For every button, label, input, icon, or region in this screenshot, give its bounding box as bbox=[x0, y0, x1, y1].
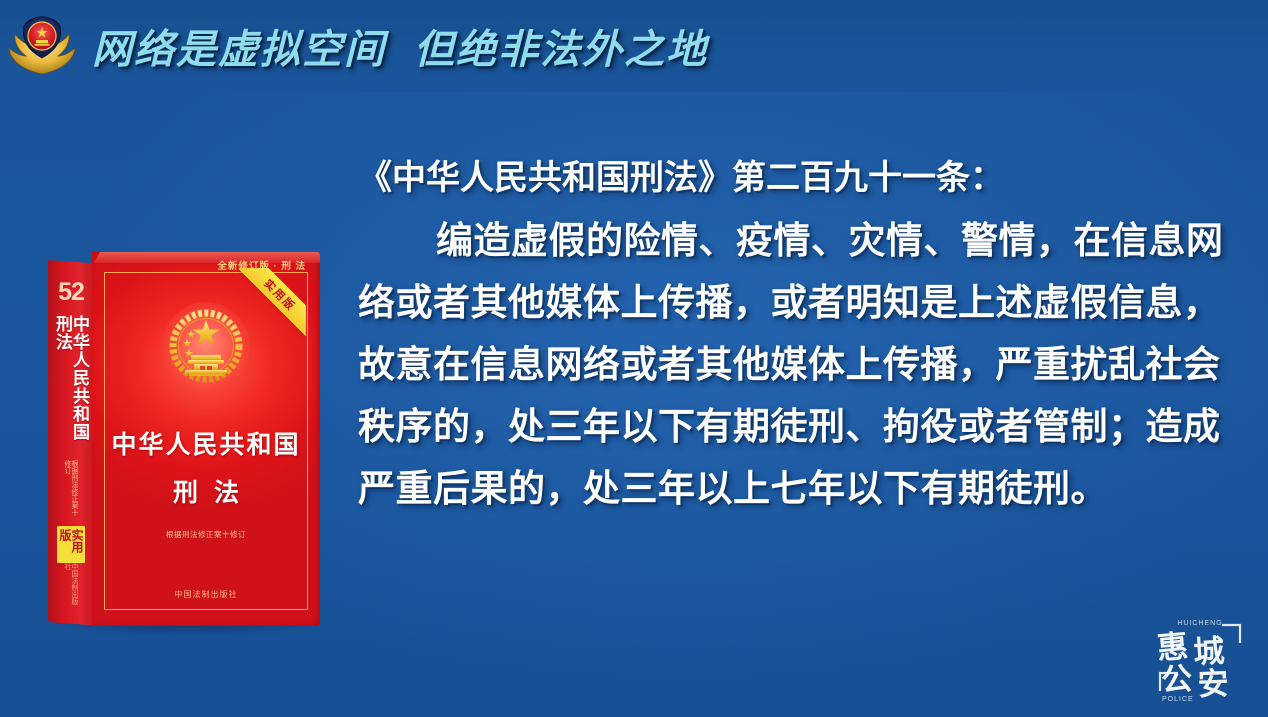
huicheng-police-watermark: HUICHENG POLICE 惠 城 公 安 bbox=[1148, 611, 1252, 707]
header-bar: 网络是虚拟空间但绝非法外之地 bbox=[0, 0, 1268, 92]
law-article-body: 编造虚假的险情、疫情、灾情、警情，在信息网络或者其他媒体上传播，或者明知是上述虚… bbox=[358, 210, 1238, 520]
book-spine-publisher: 中国法制出版社 bbox=[64, 563, 78, 606]
svg-text:HUICHENG: HUICHENG bbox=[1177, 620, 1222, 627]
book-spine-number: 52 bbox=[58, 278, 84, 307]
svg-text:惠: 惠 bbox=[1156, 628, 1190, 666]
book-spine-subtitle: 根据刑法修正案十修订 bbox=[64, 460, 78, 521]
criminal-law-book-image: 52 中华人民共和国刑法 根据刑法修正案十修订 实用版 中国法制出版社 全新修订… bbox=[48, 252, 320, 630]
header-slogan-part2: 但绝非法外之地 bbox=[414, 28, 708, 72]
book-spine-badge: 实用版 bbox=[57, 526, 85, 563]
cover-title-line1: 中华人民共和国 bbox=[92, 430, 320, 461]
police-badge-icon bbox=[6, 10, 78, 82]
china-national-emblem-icon bbox=[158, 300, 254, 396]
slide-canvas: 网络是虚拟空间但绝非法外之地 52 中华人民共和国刑法 根据刑法修正案十修订 实… bbox=[0, 0, 1268, 717]
law-text-block: 《中华人民共和国刑法》第二百九十一条： 编造虚假的险情、疫情、灾情、警情，在信息… bbox=[358, 150, 1238, 520]
cover-publisher: 中国法制出版社 bbox=[92, 589, 320, 600]
book-spine-title: 中华人民共和国刑法 bbox=[54, 315, 88, 456]
header-slogan: 网络是虚拟空间但绝非法外之地 bbox=[92, 17, 708, 75]
header-slogan-part1: 网络是虚拟空间 bbox=[92, 28, 386, 72]
svg-text:安: 安 bbox=[1197, 666, 1229, 702]
law-article-title: 《中华人民共和国刑法》第二百九十一条： bbox=[358, 150, 1238, 206]
cover-title-line2: 刑法 bbox=[92, 473, 320, 509]
book-front-cover: 全新修订版 · 刑 法 实用版 bbox=[92, 252, 320, 626]
svg-text:公: 公 bbox=[1160, 661, 1193, 698]
cover-note: 根据刑法修正案十修订 bbox=[92, 529, 320, 540]
book-spine-content: 52 中华人民共和国刑法 根据刑法修正案十修订 实用版 中国法制出版社 bbox=[48, 260, 94, 622]
cover-title: 中华人民共和国 刑法 bbox=[92, 430, 320, 509]
book-spine: 52 中华人民共和国刑法 根据刑法修正案十修订 实用版 中国法制出版社 bbox=[48, 260, 94, 625]
svg-text:城: 城 bbox=[1193, 633, 1226, 670]
